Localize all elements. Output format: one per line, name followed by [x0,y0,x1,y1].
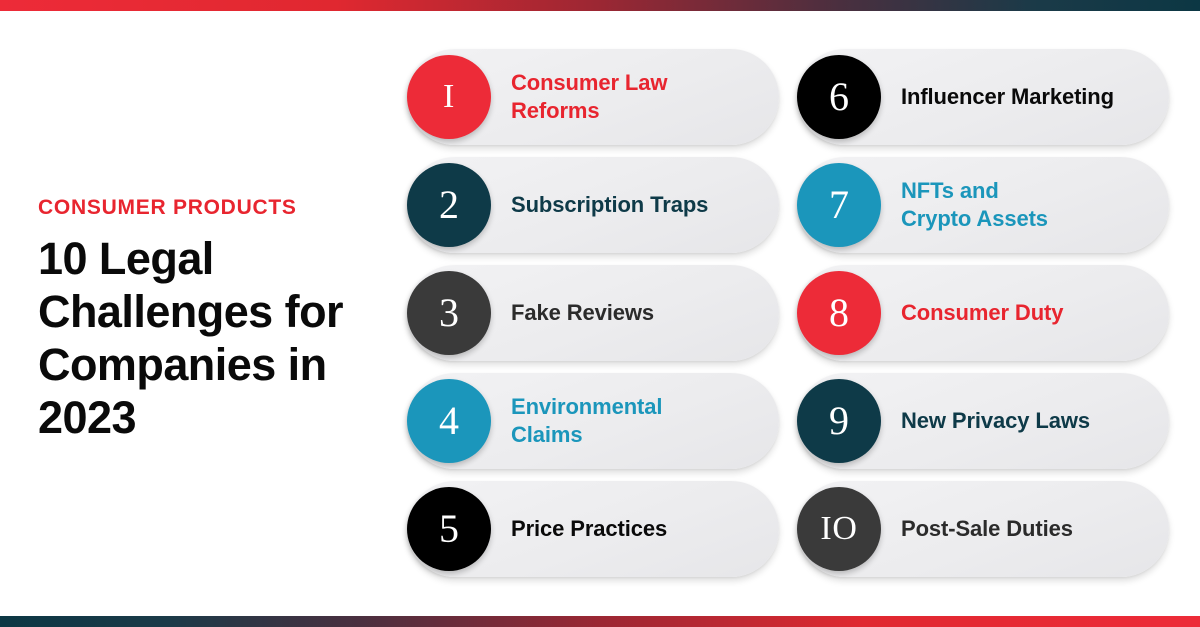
item-number-badge: 3 [407,271,491,355]
challenge-item-6[interactable]: 6Influencer Marketing [797,49,1169,145]
challenge-item-8[interactable]: 8Consumer Duty [797,265,1169,361]
item-number-badge: 6 [797,55,881,139]
top-accent-bar [0,0,1200,11]
item-label: Fake Reviews [511,299,672,327]
item-label: Influencer Marketing [901,83,1132,111]
item-label: Consumer Duty [901,299,1081,327]
item-number-badge: 8 [797,271,881,355]
item-label: NFTs and Crypto Assets [901,177,1066,233]
challenge-item-3[interactable]: 3Fake Reviews [407,265,779,361]
item-label: New Privacy Laws [901,407,1108,435]
challenge-item-7[interactable]: 7NFTs and Crypto Assets [797,157,1169,253]
item-number-badge: 5 [407,487,491,571]
challenge-item-9[interactable]: 9New Privacy Laws [797,373,1169,469]
items-column-left: IConsumer Law Reforms2Subscription Traps… [407,49,779,577]
item-number-badge: 9 [797,379,881,463]
item-label: Environmental Claims [511,393,680,449]
infographic-canvas: CONSUMER PRODUCTS 10 Legal Challenges fo… [0,11,1200,616]
item-label: Post-Sale Duties [901,515,1091,543]
item-number-badge: 2 [407,163,491,247]
challenge-item-5[interactable]: 5Price Practices [407,481,779,577]
items-column-right: 6Influencer Marketing7NFTs and Crypto As… [797,49,1169,577]
headline-block: CONSUMER PRODUCTS 10 Legal Challenges fo… [38,197,388,444]
bottom-accent-bar [0,616,1200,627]
item-number-badge: IO [797,487,881,571]
page-title: 10 Legal Challenges for Companies in 202… [38,232,388,444]
item-label: Consumer Law Reforms [511,69,685,125]
eyebrow-label: CONSUMER PRODUCTS [38,197,388,218]
item-label: Subscription Traps [511,191,726,219]
item-label: Price Practices [511,515,685,543]
challenge-item-2[interactable]: 2Subscription Traps [407,157,779,253]
challenge-item-4[interactable]: 4Environmental Claims [407,373,779,469]
challenge-item-io[interactable]: IOPost-Sale Duties [797,481,1169,577]
item-number-badge: 4 [407,379,491,463]
challenge-item-i[interactable]: IConsumer Law Reforms [407,49,779,145]
item-number-badge: 7 [797,163,881,247]
item-number-badge: I [407,55,491,139]
